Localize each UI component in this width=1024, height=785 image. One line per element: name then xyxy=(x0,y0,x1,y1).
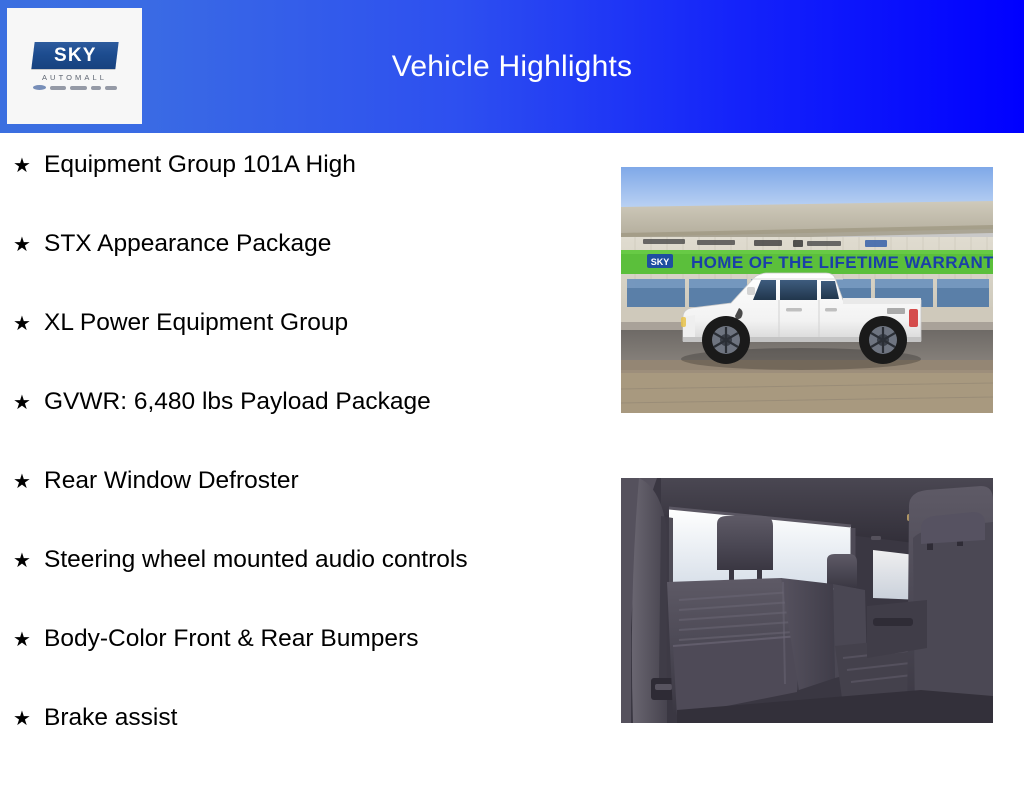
star-bullet-icon: ★ xyxy=(13,393,44,413)
header-bar: Vehicle Highlights SKY AUTOMALL xyxy=(0,0,1024,133)
svg-text:HOME OF THE LIFETIME WARRANTY: HOME OF THE LIFETIME WARRANTY xyxy=(691,253,993,272)
interior-photo-illustration xyxy=(621,478,993,723)
star-bullet-icon: ★ xyxy=(13,156,44,176)
star-bullet-icon: ★ xyxy=(13,314,44,334)
brand-chrysler-icon xyxy=(50,86,66,90)
vehicle-photo-interior[interactable] xyxy=(621,478,993,723)
star-bullet-icon: ★ xyxy=(13,551,44,571)
exterior-photo-illustration: SKY HOME OF THE LIFETIME WARRANTY xyxy=(621,167,993,413)
list-item-label: XL Power Equipment Group xyxy=(44,311,348,336)
list-item: ★ GVWR: 6,480 lbs Payload Package xyxy=(0,390,600,469)
brand-ram-icon xyxy=(105,86,117,90)
list-item-label: Body-Color Front & Rear Bumpers xyxy=(44,627,418,652)
brand-logos-strip xyxy=(33,85,117,90)
sky-logo-text: SKY xyxy=(53,46,96,65)
list-item-label: STX Appearance Package xyxy=(44,232,331,257)
list-item-label: Equipment Group 101A High xyxy=(44,153,356,178)
vehicle-highlights-list: ★ Equipment Group 101A High ★ STX Appear… xyxy=(0,133,600,768)
list-item: ★ STX Appearance Package xyxy=(0,232,600,311)
page-title: Vehicle Highlights xyxy=(0,0,1024,133)
brand-dodge-icon xyxy=(70,86,87,90)
brand-jeep-icon xyxy=(91,86,101,90)
list-item-label: GVWR: 6,480 lbs Payload Package xyxy=(44,390,431,415)
list-item: ★ XL Power Equipment Group xyxy=(0,311,600,390)
brand-ford-icon xyxy=(33,85,46,90)
list-item: ★ Rear Window Defroster xyxy=(0,469,600,548)
list-item: ★ Equipment Group 101A High xyxy=(0,153,600,232)
sky-logo-badge: SKY xyxy=(31,42,118,69)
star-bullet-icon: ★ xyxy=(13,235,44,255)
star-bullet-icon: ★ xyxy=(13,472,44,492)
list-item: ★ Steering wheel mounted audio controls xyxy=(0,548,600,627)
list-item-label: Brake assist xyxy=(44,706,177,731)
list-item-label: Rear Window Defroster xyxy=(44,469,299,494)
dealer-logo[interactable]: SKY AUTOMALL xyxy=(7,8,142,124)
list-item-label: Steering wheel mounted audio controls xyxy=(44,548,468,573)
automall-logo-text: AUTOMALL xyxy=(42,74,107,82)
star-bullet-icon: ★ xyxy=(13,709,44,729)
list-item: ★ Brake assist xyxy=(0,706,600,785)
svg-text:SKY: SKY xyxy=(651,257,670,267)
star-bullet-icon: ★ xyxy=(13,630,44,650)
list-item: ★ Body-Color Front & Rear Bumpers xyxy=(0,627,600,706)
vehicle-photo-exterior[interactable]: SKY HOME OF THE LIFETIME WARRANTY xyxy=(621,167,993,413)
